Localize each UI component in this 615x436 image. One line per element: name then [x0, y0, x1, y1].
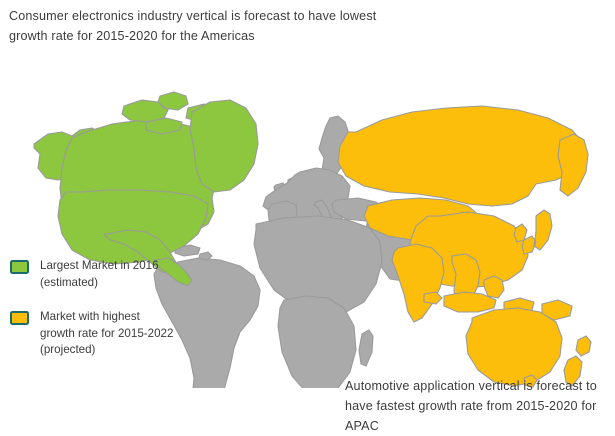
region-india — [392, 244, 444, 322]
footer-caption: Automotive application vertical is forec… — [345, 376, 607, 436]
region-russia-far-east — [558, 134, 588, 196]
legend-item-largest-market: Largest Market in 2016 (estimated) — [10, 258, 175, 291]
map-legend: Largest Market in 2016 (estimated) Marke… — [10, 258, 175, 377]
region-greenland — [190, 100, 258, 192]
legend-label-largest-market: Largest Market in 2016 (estimated) — [40, 258, 175, 291]
legend-label-highest-growth: Market with highest growth rate for 2015… — [40, 309, 175, 359]
region-africa-south — [278, 296, 356, 388]
legend-swatch-green — [10, 260, 29, 274]
region-madagascar — [359, 330, 373, 366]
legend-swatch-orange — [10, 311, 29, 325]
legend-item-highest-growth: Market with highest growth rate for 2015… — [10, 309, 175, 359]
region-australia — [466, 308, 562, 386]
headline-caption: Consumer electronics industry vertical i… — [9, 6, 409, 46]
region-russia — [338, 106, 584, 206]
infographic-canvas: Consumer electronics industry vertical i… — [0, 0, 615, 435]
